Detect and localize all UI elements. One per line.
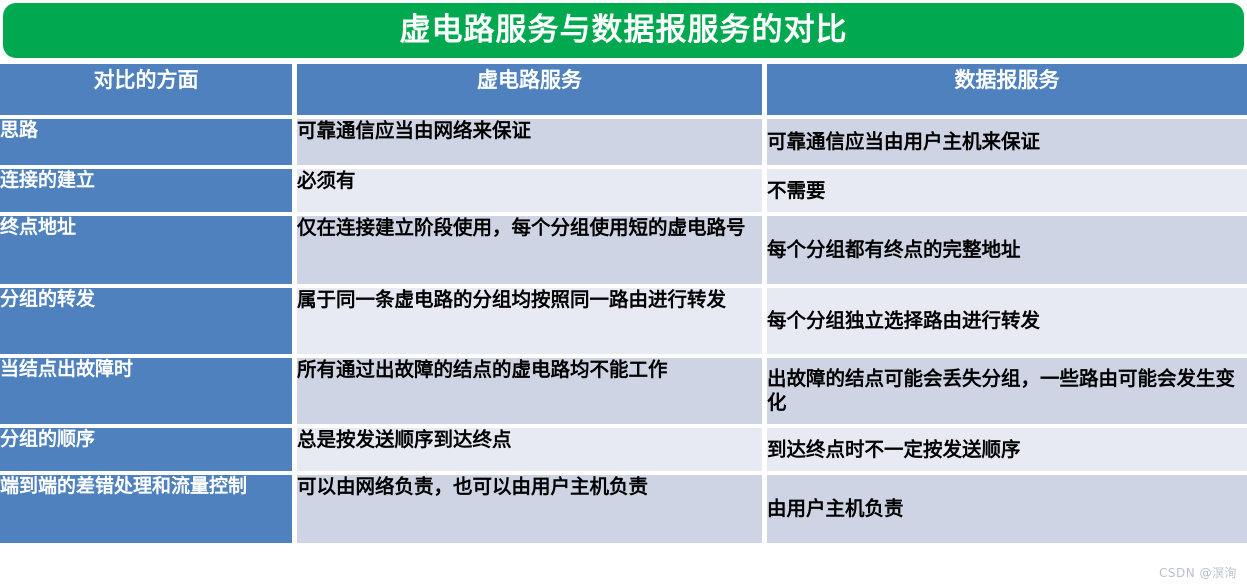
slide-canvas: 虚电路服务与数据报服务的对比 对比的方面 虚电路服务 数据报服务 思路可靠通信应… [0,0,1247,586]
table-row: 终点地址仅在连接建立阶段使用，每个分组使用短的虚电路号每个分组都有终点的完整地址 [0,216,1247,284]
column-header-aspect: 对比的方面 [0,64,292,115]
table-row: 端到端的差错处理和流量控制可以由网络负责，也可以由用户主机负责由用户主机负责 [0,475,1247,543]
row-label-cell: 连接的建立 [0,169,292,212]
virtual-circuit-cell: 属于同一条虚电路的分组均按照同一路由进行转发 [297,288,762,354]
table-row: 分组的顺序总是按发送顺序到达终点到达终点时不一定按发送顺序 [0,428,1247,471]
row-label-cell: 终点地址 [0,216,292,284]
virtual-circuit-cell: 可靠通信应当由网络来保证 [297,119,762,165]
table-row: 思路可靠通信应当由网络来保证可靠通信应当由用户主机来保证 [0,119,1247,165]
virtual-circuit-cell: 仅在连接建立阶段使用，每个分组使用短的虚电路号 [297,216,762,284]
table-row: 当结点出故障时所有通过出故障的结点的虚电路均不能工作出故障的结点可能会丢失分组，… [0,358,1247,424]
datagram-cell: 每个分组都有终点的完整地址 [767,216,1247,284]
csdn-watermark: CSDN @溟洵 [1159,564,1237,581]
row-label-cell: 当结点出故障时 [0,358,292,424]
row-label-cell: 思路 [0,119,292,165]
row-label-cell: 分组的转发 [0,288,292,354]
table-header-row: 对比的方面 虚电路服务 数据报服务 [0,64,1247,115]
virtual-circuit-cell: 所有通过出故障的结点的虚电路均不能工作 [297,358,762,424]
column-header-virtual-circuit: 虚电路服务 [297,64,762,115]
column-header-datagram: 数据报服务 [767,64,1247,115]
virtual-circuit-cell: 必须有 [297,169,762,212]
datagram-cell: 由用户主机负责 [767,475,1247,543]
table-row: 分组的转发属于同一条虚电路的分组均按照同一路由进行转发每个分组独立选择路由进行转… [0,288,1247,354]
page-title: 虚电路服务与数据报服务的对比 [400,15,848,46]
virtual-circuit-cell: 可以由网络负责，也可以由用户主机负责 [297,475,762,543]
datagram-cell: 出故障的结点可能会丢失分组，一些路由可能会发生变化 [767,358,1247,424]
row-label-cell: 端到端的差错处理和流量控制 [0,475,292,543]
datagram-cell: 每个分组独立选择路由进行转发 [767,288,1247,354]
datagram-cell: 到达终点时不一定按发送顺序 [767,428,1247,471]
datagram-cell: 不需要 [767,169,1247,212]
footer-strip [0,580,1247,586]
virtual-circuit-cell: 总是按发送顺序到达终点 [297,428,762,471]
title-banner: 虚电路服务与数据报服务的对比 [3,3,1244,58]
row-label-cell: 分组的顺序 [0,428,292,471]
table-body: 思路可靠通信应当由网络来保证可靠通信应当由用户主机来保证连接的建立必须有不需要终… [0,115,1247,543]
comparison-table: 对比的方面 虚电路服务 数据报服务 思路可靠通信应当由网络来保证可靠通信应当由用… [0,64,1247,543]
datagram-cell: 可靠通信应当由用户主机来保证 [767,119,1247,165]
table-row: 连接的建立必须有不需要 [0,169,1247,212]
